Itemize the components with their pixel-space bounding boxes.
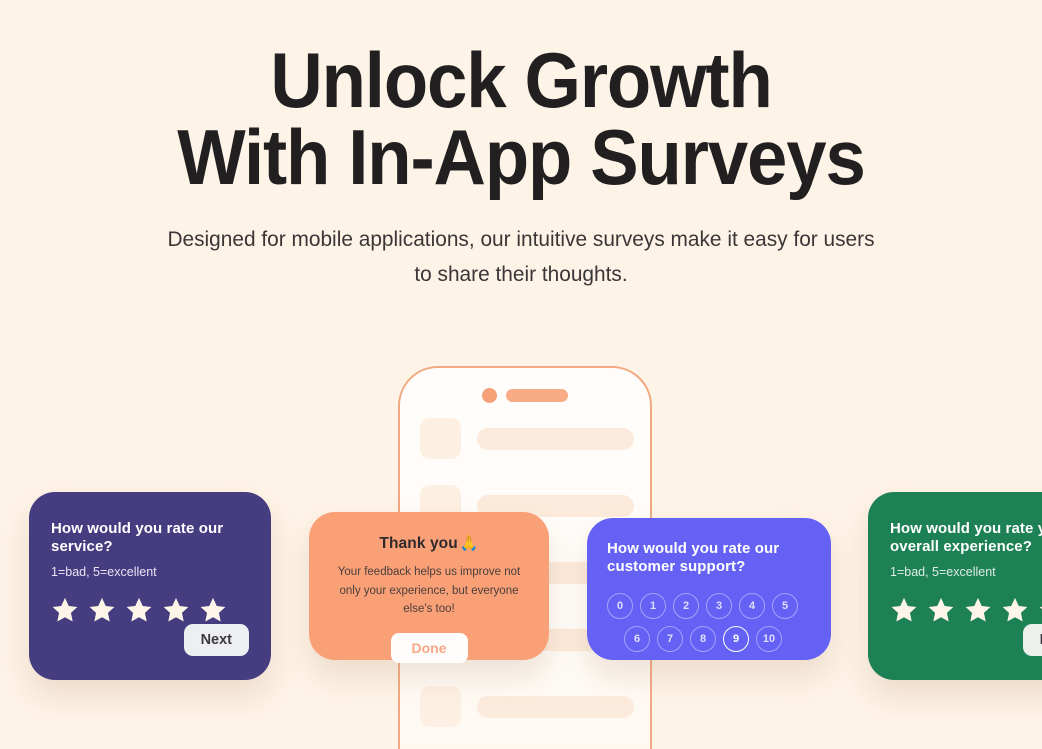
star-icon[interactable] — [162, 596, 190, 624]
star-icon[interactable] — [890, 596, 918, 624]
star-icon[interactable] — [125, 596, 153, 624]
card-actions: Done — [327, 633, 531, 663]
phone-dynamic-island — [482, 388, 568, 403]
nps-option-4[interactable]: 4 — [739, 593, 765, 619]
survey-card-thank-you[interactable]: Thank you🙏 Your feedback helps us improv… — [309, 512, 549, 660]
avatar-placeholder — [420, 686, 461, 727]
text-bar-placeholder — [477, 696, 634, 718]
hero-section: Unlock Growth With In-App Surveys Design… — [0, 0, 1042, 292]
survey-card-rate-service[interactable]: How would you rate our service? 1=bad, 5… — [29, 492, 271, 680]
page-title-line-2: With In-App Surveys — [36, 119, 1005, 196]
nps-option-9[interactable]: 9 — [723, 626, 749, 652]
page-subtitle: Designed for mobile applications, our in… — [162, 196, 880, 292]
question-text: How would you rate our customer support? — [607, 540, 811, 577]
nps-option-2[interactable]: 2 — [673, 593, 699, 619]
thank-you-body: Your feedback helps us improve not only … — [327, 563, 531, 619]
nps-option-0[interactable]: 0 — [607, 593, 633, 619]
page-title: Unlock Growth With In-App Surveys — [36, 0, 1005, 196]
nps-option-10[interactable]: 10 — [756, 626, 782, 652]
star-rating[interactable] — [890, 596, 1042, 624]
speaker-pill-icon — [506, 389, 568, 402]
question-hint: 1=bad, 5=excellent — [51, 564, 249, 580]
survey-card-rate-experience[interactable]: How would you rate your overall experien… — [868, 492, 1042, 680]
next-button[interactable]: Next — [1023, 624, 1042, 656]
star-icon[interactable] — [51, 596, 79, 624]
camera-dot-icon — [482, 388, 497, 403]
page-title-line-1: Unlock Growth — [36, 42, 1005, 119]
nps-scale-row-2: 6 7 8 9 10 — [607, 626, 811, 652]
list-item — [420, 418, 634, 459]
question-hint: 1=bad, 5=excellent — [890, 564, 1042, 580]
next-button[interactable]: Next — [184, 624, 249, 656]
nps-option-8[interactable]: 8 — [690, 626, 716, 652]
survey-card-nps-support[interactable]: How would you rate our customer support?… — [587, 518, 831, 660]
card-actions: Next — [1023, 624, 1042, 656]
nps-option-7[interactable]: 7 — [657, 626, 683, 652]
list-item — [420, 686, 634, 727]
done-button[interactable]: Done — [391, 633, 468, 663]
star-rating[interactable] — [51, 596, 249, 624]
star-icon[interactable] — [964, 596, 992, 624]
nps-scale[interactable]: 0 1 2 3 4 5 6 7 8 9 10 — [607, 593, 811, 652]
thank-you-title: Thank you🙏 — [327, 534, 531, 553]
nps-option-6[interactable]: 6 — [624, 626, 650, 652]
thank-you-title-text: Thank you — [379, 535, 457, 552]
avatar-placeholder — [420, 418, 461, 459]
star-icon[interactable] — [927, 596, 955, 624]
nps-scale-row-1: 0 1 2 3 4 5 — [607, 593, 811, 619]
question-text: How would you rate our service? — [51, 520, 249, 557]
praying-hands-icon: 🙏 — [460, 535, 479, 552]
star-icon[interactable] — [199, 596, 227, 624]
nps-option-3[interactable]: 3 — [706, 593, 732, 619]
star-icon[interactable] — [88, 596, 116, 624]
nps-option-5[interactable]: 5 — [772, 593, 798, 619]
nps-option-1[interactable]: 1 — [640, 593, 666, 619]
question-text: How would you rate your overall experien… — [890, 520, 1042, 557]
card-actions: Next — [184, 624, 249, 656]
text-bar-placeholder — [477, 428, 634, 450]
star-icon[interactable] — [1001, 596, 1029, 624]
star-icon[interactable] — [1038, 596, 1042, 624]
page-root: Unlock Growth With In-App Surveys Design… — [0, 0, 1042, 749]
